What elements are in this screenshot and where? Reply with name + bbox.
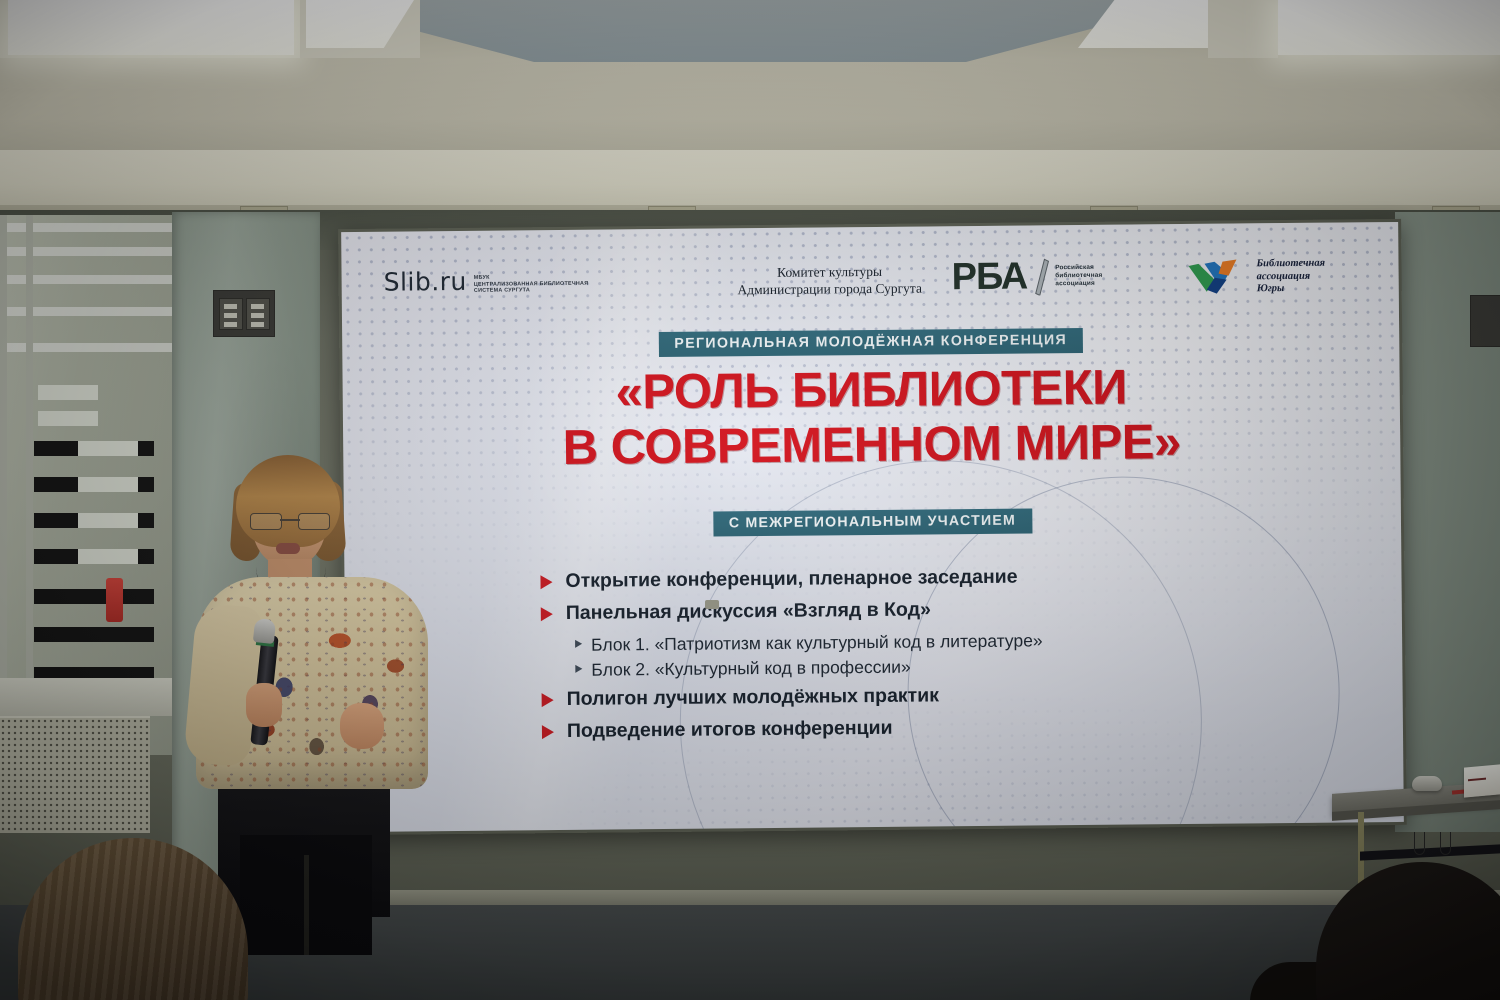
komitet-line-2: Администрации города Сургута — [660, 279, 1000, 299]
ceiling-light-4 — [1278, 0, 1500, 55]
cable-loop-1 — [1414, 832, 1425, 855]
komitet-kultury-block: Комитет культуры Администрации города Су… — [659, 262, 999, 299]
ribbon-bottom-banner: С МЕЖРЕГИОНАЛЬНЫМ УЧАСТИЕМ — [713, 508, 1032, 536]
yugra-line-3: Югры — [1257, 283, 1326, 296]
slib-subline-3: СИСТЕМА СУРГУТА — [474, 287, 589, 295]
microphone-head-icon — [253, 618, 276, 644]
speaker — [188, 455, 433, 915]
agenda-subitem: Блок 2. «Культурный код в профессии» — [575, 654, 1043, 680]
agenda-item-label: Подведение итогов конференции — [567, 717, 893, 743]
yugra-text: Библиотечная ассоциация Югры — [1256, 258, 1325, 296]
triangle-bullet-icon — [540, 575, 552, 589]
small-triangle-bullet-icon — [575, 665, 582, 673]
screen-mount-bracket — [705, 600, 719, 609]
agenda-item: Панельная дискуссия «Взгляд в Код» — [541, 597, 1043, 625]
yugra-checkmark-icon — [1186, 257, 1250, 298]
glasses-icon — [250, 513, 330, 528]
mullion-mid — [26, 215, 33, 755]
agenda-list: Открытие конференции, пленарное заседани… — [540, 565, 1043, 752]
triangle-bullet-icon — [541, 607, 553, 621]
leg-gap — [304, 855, 309, 955]
name-card — [1464, 764, 1500, 797]
agenda-subitem-label: Блок 1. «Патриотизм как культурный код в… — [591, 629, 1043, 655]
agenda-item-label: Панельная дискуссия «Взгляд в Код» — [566, 598, 931, 625]
agenda-item-label: Открытие конференции, пленарное заседани… — [565, 566, 1017, 593]
agenda-subitem-label: Блок 2. «Культурный код в профессии» — [591, 656, 911, 681]
agenda-subitem: Блок 1. «Патриотизм как культурный код в… — [575, 629, 1043, 655]
slide-logo-row: Slib.ru МБУК ЦЕНТРАЛИЗОВАННАЯ БИБЛИОТЕЧН… — [341, 242, 1399, 316]
mullion-left — [0, 215, 7, 755]
agenda-item-label: Полигон лучших молодёжных практик — [567, 684, 940, 711]
presentation-photo: Slib.ru МБУК ЦЕНТРАЛИЗОВАННАЯ БИБЛИОТЕЧН… — [0, 0, 1500, 1000]
small-triangle-bullet-icon — [575, 640, 582, 648]
slide-title: «РОЛЬ БИБЛИОТЕКИ В СОВРЕМЕННОМ МИРЕ» — [342, 358, 1400, 478]
triangle-bullet-icon — [542, 693, 554, 707]
rba-logo: РБА Российская библиотечная ассоциация — [951, 257, 1102, 296]
cable-loop-2 — [1440, 832, 1451, 855]
slib-wordmark: Slib.ru — [384, 269, 467, 295]
agenda-item: Открытие конференции, пленарное заседани… — [540, 565, 1042, 593]
gesturing-hand — [340, 703, 384, 749]
yugra-association-logo: Библиотечная ассоциация Югры — [1186, 257, 1325, 298]
rba-subline-2: библиотечная — [1055, 272, 1102, 281]
yugra-line-1: Библиотечная — [1256, 258, 1325, 271]
computer-mouse[interactable] — [1412, 776, 1442, 791]
rba-book-icon — [1033, 257, 1049, 295]
rba-sublines: Российская библиотечная ассоциация — [1055, 263, 1102, 288]
wall-outlet-panel-right — [1470, 295, 1500, 347]
slib-sublines: МБУК ЦЕНТРАЛИЗОВАННАЯ БИБЛИОТЕЧНАЯ СИСТЕ… — [474, 268, 589, 295]
red-object-on-sill — [106, 578, 123, 622]
light-frame-right — [1208, 0, 1278, 58]
slide: Slib.ru МБУК ЦЕНТРАЛИЗОВАННАЯ БИБЛИОТЕЧН… — [341, 222, 1404, 832]
wall-outlet-panel — [213, 290, 275, 337]
radiator-grille — [0, 716, 150, 833]
hair-top — [236, 455, 340, 547]
slib-logo: Slib.ru МБУК ЦЕНТРАЛИЗОВАННАЯ БИБЛИОТЕЧН… — [384, 268, 589, 296]
ceiling-band — [0, 150, 1500, 212]
yugra-line-2: ассоциация — [1257, 270, 1326, 283]
agenda-item: Полигон лучших молодёжных практик — [542, 683, 1044, 711]
left-sleeve — [183, 602, 263, 767]
projection-screen: Slib.ru МБУК ЦЕНТРАЛИЗОВАННАЯ БИБЛИОТЕЧН… — [338, 219, 1407, 835]
mouth — [276, 543, 300, 554]
window-counter — [0, 678, 176, 716]
agenda-item: Подведение итогов конференции — [542, 715, 1044, 743]
rba-subline-3: ассоциация — [1055, 280, 1102, 289]
ceiling-light-1 — [8, 0, 294, 55]
slide-title-line-1: «РОЛЬ БИБЛИОТЕКИ — [342, 358, 1399, 423]
slide-title-line-2: В СОВРЕМЕННОМ МИРЕ» — [343, 413, 1400, 478]
hand-holding-microphone — [246, 683, 282, 727]
rba-wordmark: РБА — [951, 258, 1027, 297]
triangle-bullet-icon — [542, 725, 554, 739]
ribbon-top-banner: РЕГИОНАЛЬНАЯ МОЛОДЁЖНАЯ КОНФЕРЕНЦИЯ — [658, 328, 1083, 357]
